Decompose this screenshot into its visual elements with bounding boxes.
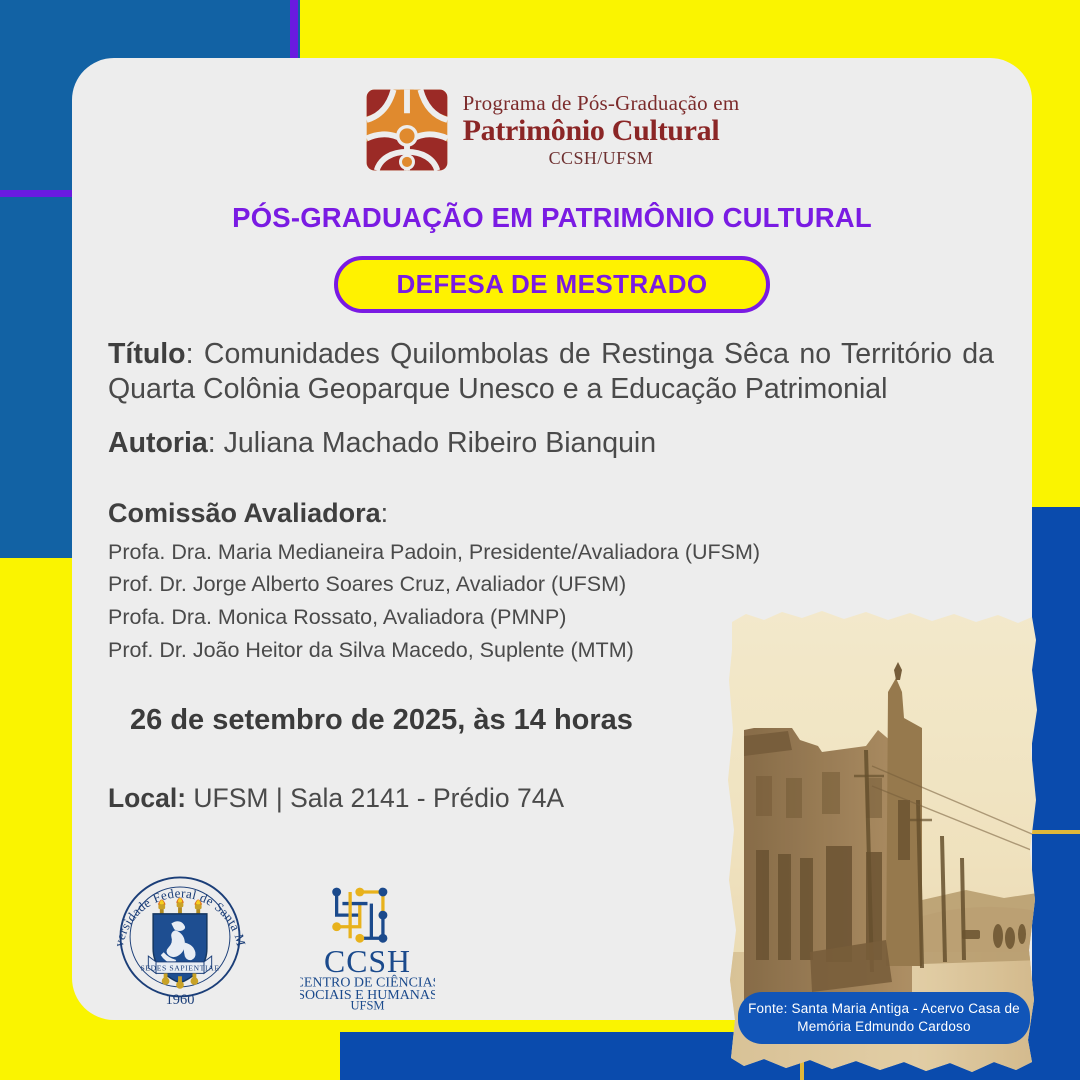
program-logo-line2: Patrimônio Cultural bbox=[463, 115, 740, 147]
ufsm-crest-icon: Universidade Federal de Santa Maria bbox=[108, 860, 252, 1010]
author-value: Juliana Machado Ribeiro Bianquin bbox=[224, 427, 657, 459]
program-logo-line3: CCSH/UFSM bbox=[463, 149, 740, 168]
committee-heading: Comissão Avaliadora: bbox=[108, 498, 996, 529]
committee-separator: : bbox=[381, 498, 389, 528]
list-item: Prof. Dr. Jorge Alberto Soares Cruz, Ava… bbox=[108, 568, 996, 601]
program-logo-line1: Programa de Pós-Graduação em bbox=[463, 92, 740, 114]
patrimonio-cultural-mosaic-icon bbox=[365, 88, 449, 172]
historic-street-photo: Fonte: Santa Maria Antiga - Acervo Casa … bbox=[726, 600, 1044, 1080]
list-item: Profa. Dra. Maria Medianeira Padoin, Pre… bbox=[108, 536, 996, 569]
ccsh-line3: UFSM bbox=[350, 999, 384, 1010]
footer-logos: Universidade Federal de Santa Maria bbox=[108, 860, 435, 1010]
ccsh-network-icon bbox=[337, 892, 383, 938]
thesis-title-value: Comunidades Quilombolas de Restinga Sêca… bbox=[108, 338, 994, 405]
location-value: UFSM | Sala 2141 - Prédio 74A bbox=[186, 783, 564, 813]
event-badge-wrap: DEFESA DE MESTRADO bbox=[72, 256, 1032, 313]
committee-label: Comissão Avaliadora bbox=[108, 498, 381, 528]
ccsh-logo: CCSH CENTRO DE CIÊNCIAS SOCIAIS E HUMANA… bbox=[300, 882, 435, 1010]
ufsm-seal-year: 1960 bbox=[166, 992, 195, 1008]
thesis-title-separator: : bbox=[186, 338, 204, 370]
author-label: Autoria bbox=[108, 427, 208, 459]
thesis-title-block: Título: Comunidades Quilombolas de Resti… bbox=[108, 337, 994, 407]
ccsh-acronym: CCSH bbox=[324, 944, 411, 979]
svg-text:SEDES SAPIENTIAE: SEDES SAPIENTIAE bbox=[141, 964, 220, 973]
location-label: Local: bbox=[108, 783, 186, 813]
program-logo: Programa de Pós-Graduação em Patrimônio … bbox=[72, 88, 1032, 172]
author-block: Autoria: Juliana Machado Ribeiro Bianqui… bbox=[108, 427, 996, 460]
status-badge: DEFESA DE MESTRADO bbox=[334, 256, 769, 313]
author-separator: : bbox=[208, 427, 224, 459]
photo-caption: Fonte: Santa Maria Antiga - Acervo Casa … bbox=[738, 992, 1030, 1044]
thesis-title-label: Título bbox=[108, 338, 186, 370]
page-title: PÓS-GRADUAÇÃO EM PATRIMÔNIO CULTURAL bbox=[72, 202, 1032, 234]
